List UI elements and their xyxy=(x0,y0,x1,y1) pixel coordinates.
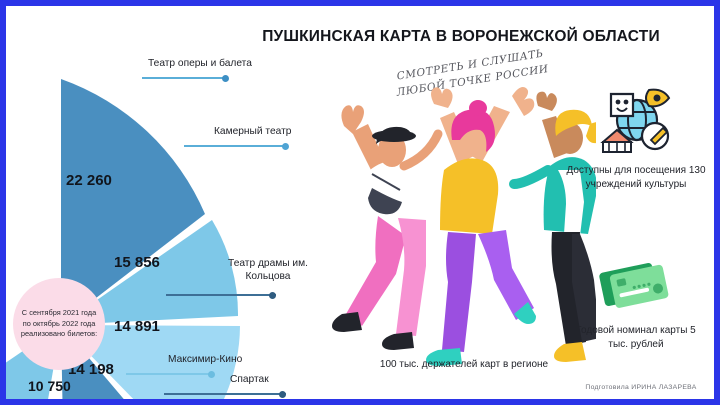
leader-dot-4 xyxy=(279,391,286,398)
side-block-cards: Годовой номинал карты 5 тыс. рублей xyxy=(566,254,706,352)
leader-line-2 xyxy=(166,294,276,296)
leader-dot-3 xyxy=(208,371,215,378)
leader-line-3 xyxy=(126,373,214,375)
callout-label-0: Театр оперы и балета xyxy=(148,58,252,71)
side-block-culture: Доступны для посещения 130 учреждений ку… xyxy=(566,84,706,192)
cards-caption: Годовой номинал карты 5 тыс. рублей xyxy=(566,324,706,352)
culture-globe-icon xyxy=(593,84,679,158)
dancers-illustration xyxy=(326,66,596,366)
leader-line-0 xyxy=(142,77,228,79)
dancer-center xyxy=(426,87,536,366)
callout-label-2: Театр драмы им. Кольцова xyxy=(220,258,316,284)
leader-line-4 xyxy=(164,393,286,395)
slice-value-1: 15 856 xyxy=(114,254,160,271)
callout-label-4: Спартак xyxy=(230,374,269,387)
leader-dot-2 xyxy=(269,292,276,299)
slice-value-0: 22 260 xyxy=(66,172,112,189)
page-title: ПУШКИНСКАЯ КАРТА В ВОРОНЕЖСКОЙ ОБЛАСТИ xyxy=(236,28,686,46)
leader-line-1 xyxy=(184,145,288,147)
rose-chart: 22 260 15 856 14 891 14 198 10 750 С сен… xyxy=(6,54,254,394)
leader-dot-1 xyxy=(282,143,289,150)
center-note-text: С сентября 2021 года по октябрь 2022 год… xyxy=(13,308,105,340)
callout-label-3: Максимир-Кино xyxy=(168,354,242,367)
holders-caption: 100 тыс. держателей карт в регионе xyxy=(364,358,564,373)
callout-label-1: Камерный театр xyxy=(214,126,291,139)
credit-line: Подготовила ИРИНА ЛАЗАРЕВА xyxy=(566,384,714,391)
center-note-bubble: С сентября 2021 года по октябрь 2022 год… xyxy=(13,278,105,370)
dancer-left xyxy=(332,105,438,350)
leader-dot-0 xyxy=(222,75,229,82)
infographic-frame: ПУШКИНСКАЯ КАРТА В ВОРОНЕЖСКОЙ ОБЛАСТИ 2… xyxy=(6,6,714,399)
culture-caption: Доступны для посещения 130 учреждений ку… xyxy=(566,164,706,192)
slice-value-4: 10 750 xyxy=(28,378,71,394)
slice-value-2: 14 891 xyxy=(114,318,160,335)
credit-cards-icon xyxy=(588,254,684,318)
